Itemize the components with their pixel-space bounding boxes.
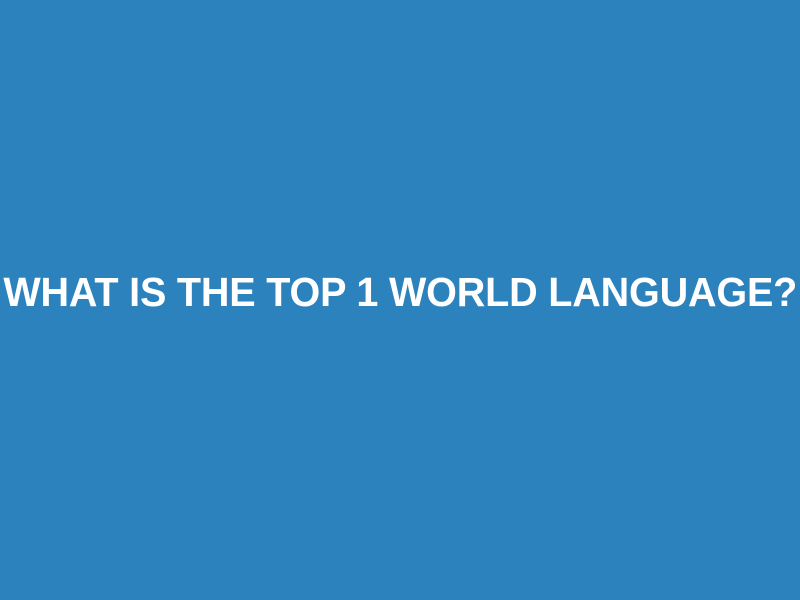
headline-container: WHAT IS THE TOP 1 WORLD LANGUAGE? <box>0 0 800 585</box>
page-title: WHAT IS THE TOP 1 WORLD LANGUAGE? <box>3 269 797 316</box>
featured-image-card: WHAT IS THE TOP 1 WORLD LANGUAGE? <box>0 0 800 600</box>
